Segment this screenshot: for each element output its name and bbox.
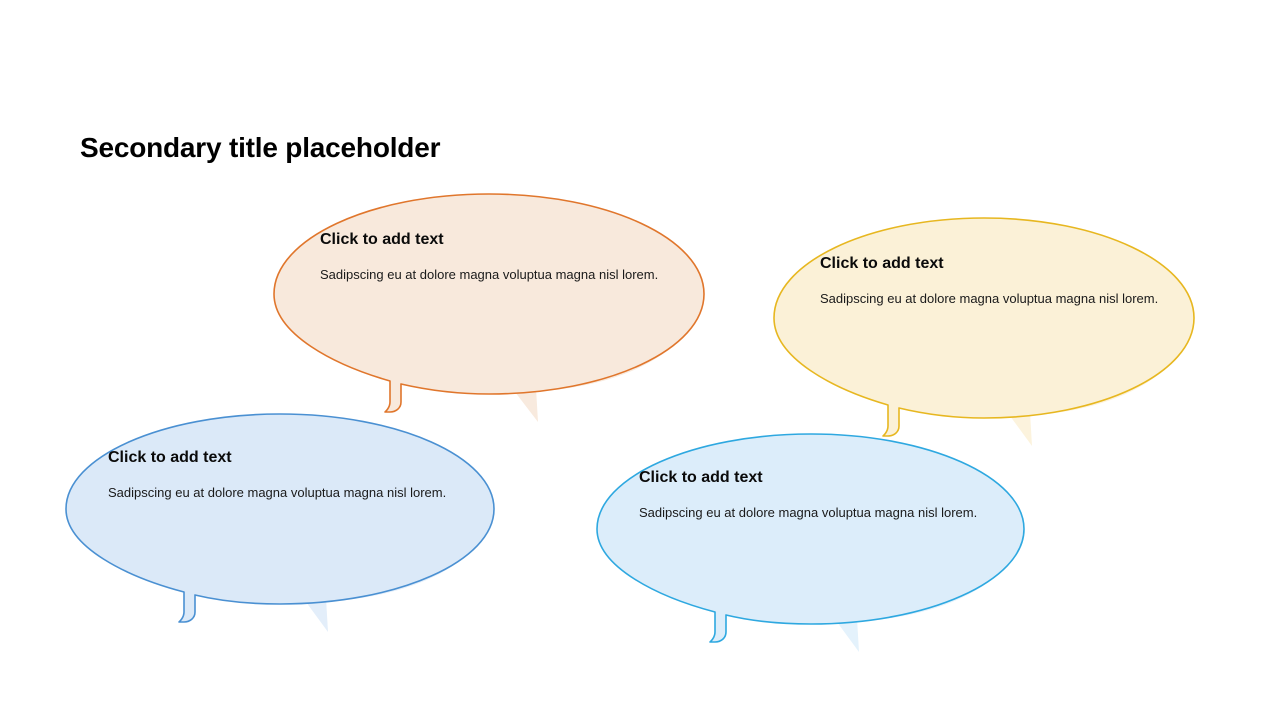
bubble-text-block: Click to add text Sadipscing eu at dolor… (639, 468, 987, 523)
bubble-text-block: Click to add text Sadipscing eu at dolor… (820, 254, 1168, 309)
bubble-outline (66, 414, 494, 622)
bubble-text-block: Click to add text Sadipscing eu at dolor… (320, 230, 668, 285)
page-title: Secondary title placeholder (80, 132, 440, 164)
speech-bubble-yellow[interactable]: Click to add text Sadipscing eu at dolor… (772, 216, 1196, 432)
bubble-heading[interactable]: Click to add text (639, 468, 987, 487)
speech-bubble-blue-left[interactable]: Click to add text Sadipscing eu at dolor… (64, 412, 496, 618)
bubble-body[interactable]: Sadipscing eu at dolore magna voluptua m… (820, 289, 1168, 309)
bubble-text-block: Click to add text Sadipscing eu at dolor… (108, 448, 456, 503)
speech-bubble-shape (595, 432, 1026, 658)
bubble-heading[interactable]: Click to add text (820, 254, 1168, 273)
bubble-outline (774, 218, 1194, 436)
bubble-body[interactable]: Sadipscing eu at dolore magna voluptua m… (108, 483, 456, 503)
slide-canvas: Secondary title placeholder Click to add… (0, 0, 1280, 720)
speech-bubble-shape (272, 192, 706, 428)
speech-bubble-shape (772, 216, 1196, 452)
bubble-heading[interactable]: Click to add text (108, 448, 456, 467)
bubble-heading[interactable]: Click to add text (320, 230, 668, 249)
speech-bubble-peach[interactable]: Click to add text Sadipscing eu at dolor… (272, 192, 706, 408)
bubble-body[interactable]: Sadipscing eu at dolore magna voluptua m… (639, 503, 987, 523)
speech-bubble-shape (64, 412, 496, 638)
speech-bubble-blue-right[interactable]: Click to add text Sadipscing eu at dolor… (595, 432, 1026, 638)
bubble-outline (274, 194, 704, 412)
bubble-body[interactable]: Sadipscing eu at dolore magna voluptua m… (320, 265, 668, 285)
bubble-outline (597, 434, 1024, 642)
